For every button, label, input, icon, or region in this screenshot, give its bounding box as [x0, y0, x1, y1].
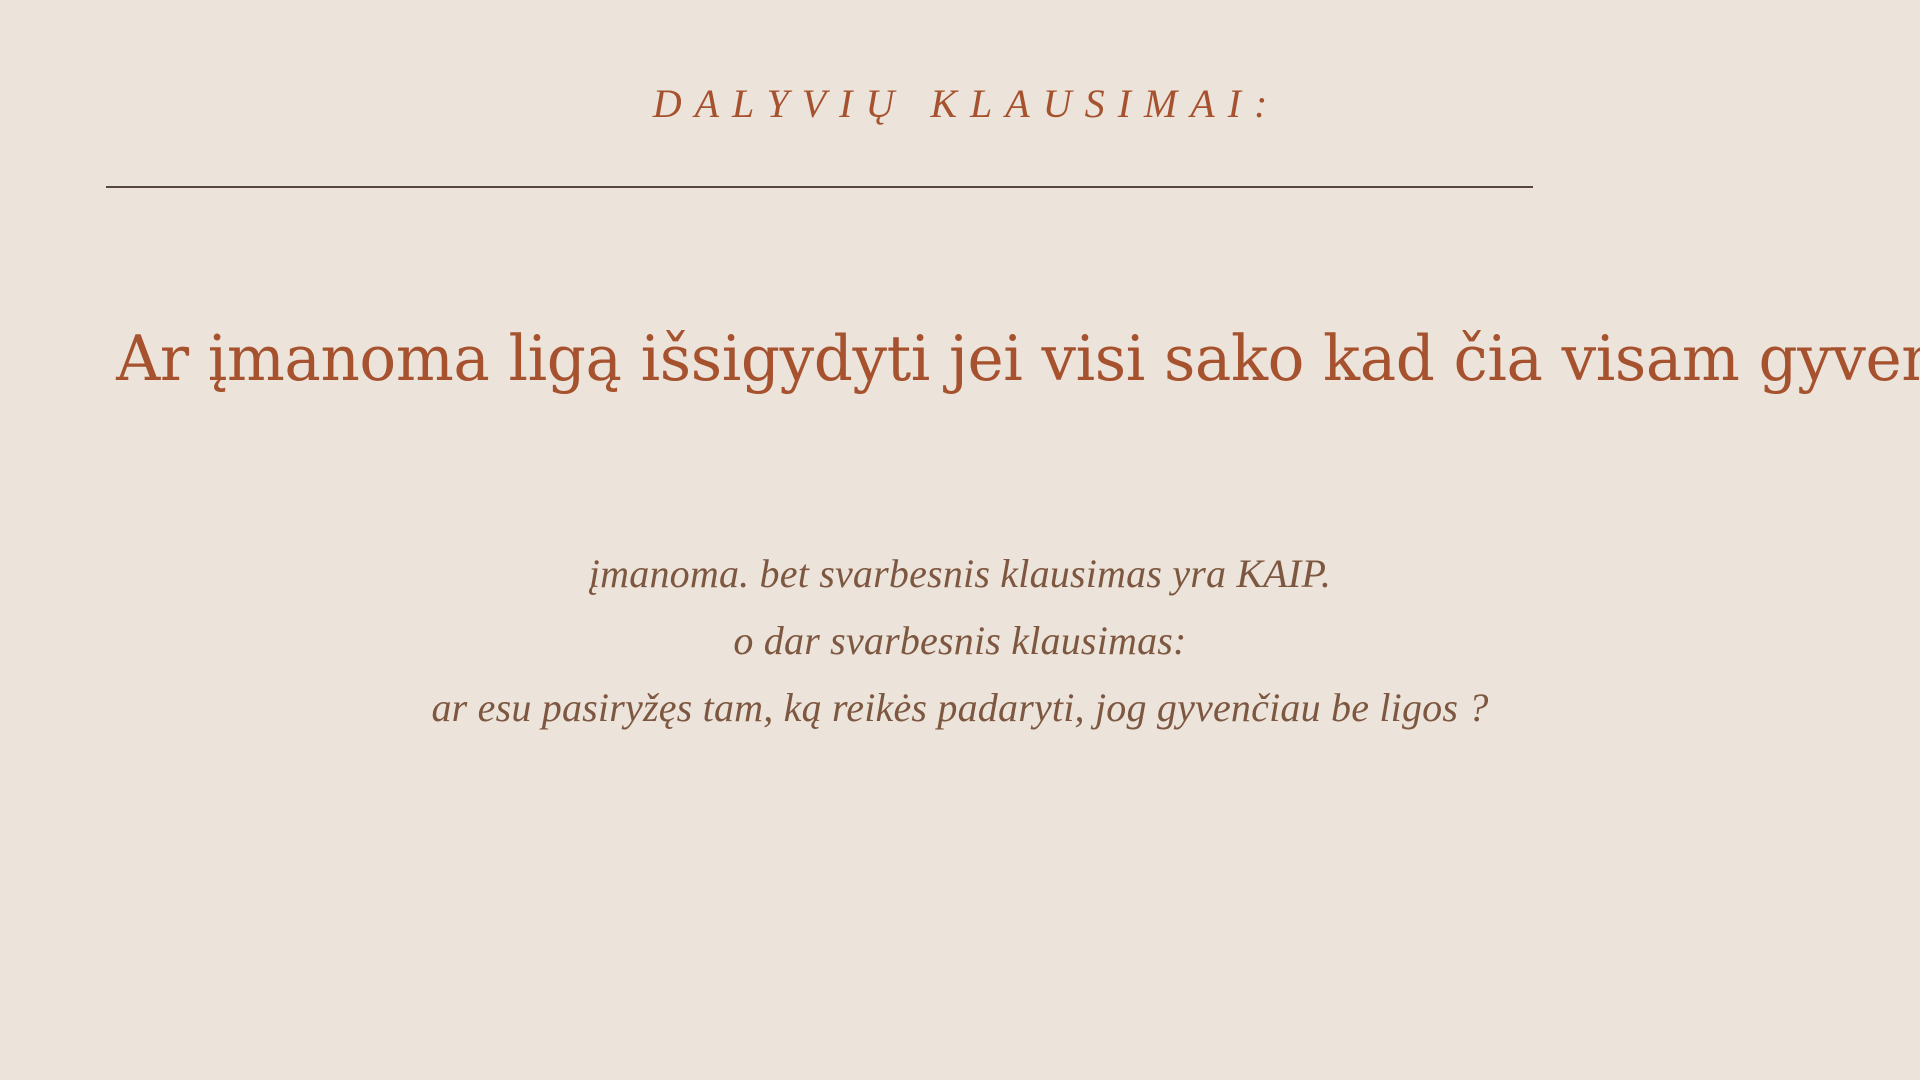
header-divider-rule — [106, 186, 1533, 188]
answer-line-1: įmanoma. bet svarbesnis klausimas yra KA… — [0, 540, 1920, 607]
section-eyebrow-title: DALYVIŲ KLAUSIMAI: — [0, 82, 1920, 126]
answer-line-3: ar esu pasiryžęs tam, ką reikės padaryti… — [0, 674, 1920, 741]
answer-line-2: o dar svarbesnis klausimas: — [0, 607, 1920, 674]
page-title: Ar įmanoma ligą išsigydyti jei visi sako… — [29, 324, 1891, 395]
slide-root: DALYVIŲ KLAUSIMAI: Ar įmanoma ligą išsig… — [0, 0, 1920, 1080]
answer-block: įmanoma. bet svarbesnis klausimas yra KA… — [0, 540, 1920, 741]
header-block: DALYVIŲ KLAUSIMAI: — [0, 82, 1920, 126]
